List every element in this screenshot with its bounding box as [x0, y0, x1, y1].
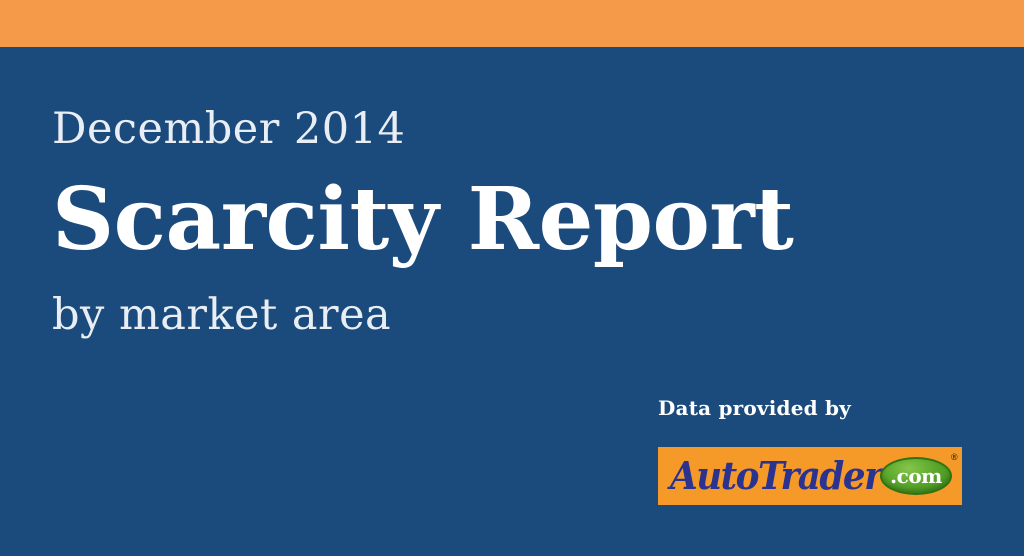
page-subtitle: by market area [52, 293, 772, 338]
dotcom-label: .com [880, 457, 952, 495]
autotrader-logo-inner: AutoTrader .com ® [658, 447, 962, 505]
top-accent-band [0, 0, 1024, 47]
report-date: December 2014 [52, 107, 772, 152]
title-block: December 2014 Scarcity Report by market … [52, 107, 772, 338]
registered-trademark-icon: ® [951, 453, 958, 462]
slide-body: December 2014 Scarcity Report by market … [0, 47, 1024, 556]
autotrader-logo[interactable]: AutoTrader .com ® [658, 447, 962, 505]
attribution-label: Data provided by [658, 396, 968, 420]
attribution-block: Data provided by AutoTrader .com ® [658, 396, 968, 420]
dotcom-badge-icon: .com [880, 457, 952, 495]
autotrader-wordmark: AutoTrader [670, 453, 881, 499]
page-title: Scarcity Report [52, 174, 772, 267]
